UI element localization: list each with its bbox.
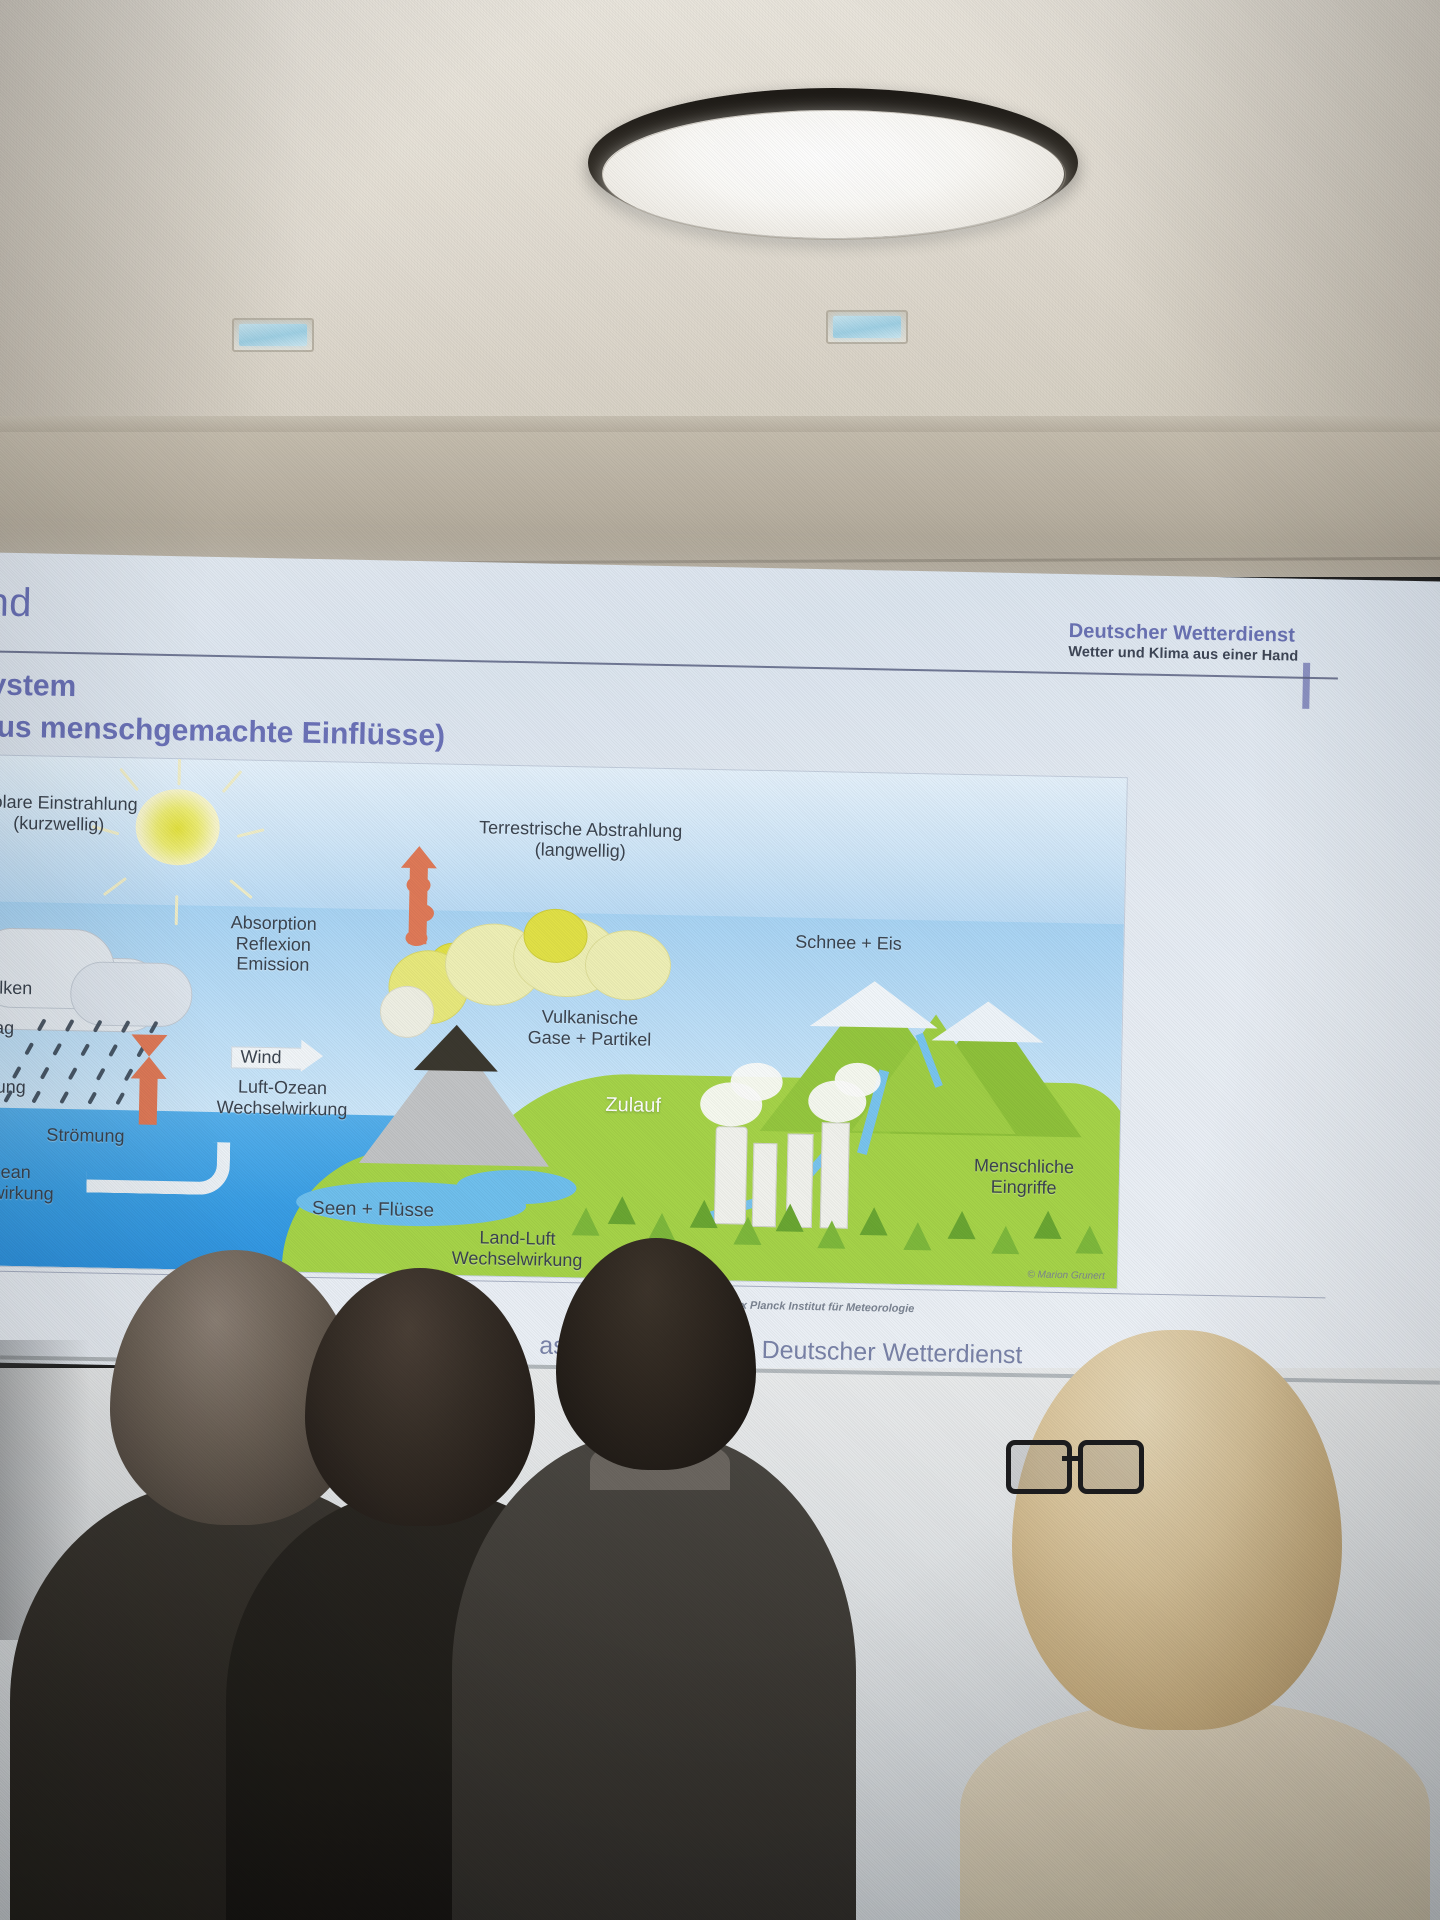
label-absorption-reflexion-emission: Absorption Reflexion Emission <box>183 911 364 976</box>
label-wind: Wind <box>221 1046 301 1068</box>
sun-ray <box>175 895 179 925</box>
tree-icon <box>733 1216 762 1245</box>
ceiling-lamp-edge <box>602 110 1066 240</box>
ceiling-shadow-right <box>1100 0 1440 430</box>
tree-icon <box>690 1200 719 1229</box>
recessed-spotlight-right <box>826 310 908 344</box>
arrow-head-up <box>401 846 437 869</box>
recessed-spotlight-left <box>232 318 314 352</box>
person-torso <box>960 1700 1430 1920</box>
dwd-logo-name: Deutscher Wetterdienst <box>1068 620 1298 648</box>
glasses-bridge <box>1062 1456 1078 1461</box>
label-land-air-interaction: Land-Luft Wechselwirkung <box>417 1226 618 1271</box>
photo-scene: ntergrund Deutscher Wetterdienst Wetter … <box>0 0 1440 1920</box>
tree-icon <box>1034 1210 1063 1239</box>
tree-icon <box>608 1196 637 1225</box>
label-current: Strömung <box>15 1124 155 1147</box>
upper-wall <box>0 432 1440 577</box>
wind-arrow-tip <box>301 1040 324 1072</box>
label-inflow: Zulauf <box>568 1093 698 1118</box>
dwd-logo: Deutscher Wetterdienst Wetter und Klima … <box>1068 620 1299 665</box>
mountain-snowcap <box>932 1000 1045 1042</box>
label-ice-ocean-interaction: Eis-Ozean Wechselwirkung <box>0 1159 89 1204</box>
slide-title: ntergrund <box>0 578 32 627</box>
cooling-tower <box>714 1126 748 1225</box>
label-terrestrial-radiation: Terrestrische Abstrahlung (langwellig) <box>435 816 726 863</box>
glasses-lens <box>1006 1440 1072 1494</box>
smokestack <box>752 1143 778 1227</box>
mountain-snowcap <box>810 980 939 1029</box>
cloud-shape <box>70 961 193 1027</box>
dwd-logo-bar <box>1302 663 1310 709</box>
tree-icon <box>991 1226 1020 1255</box>
label-air-ocean-interaction: Luft-Ozean Wechselwirkung <box>182 1075 383 1120</box>
arrow-head-up <box>131 1056 167 1079</box>
cooling-tower <box>820 1122 850 1229</box>
dwd-logo-tagline: Wetter und Klima aus einer Hand <box>1068 644 1298 665</box>
label-precipitation: Niederschlag <box>0 1016 32 1039</box>
ceiling-shadow-left <box>0 0 300 430</box>
label-solar-radiation: Solare Einstrahlung (kurzwellig) <box>0 791 174 837</box>
glasses-lens <box>1078 1440 1144 1494</box>
label-snow-and-ice: Schnee + Eis <box>753 931 943 955</box>
arrow-head-down <box>131 1034 167 1057</box>
ocean-current-arrow <box>86 1139 230 1195</box>
arrow-wave <box>405 930 427 946</box>
label-clouds: Wolken <box>0 977 53 1000</box>
eyeglasses <box>1006 1440 1136 1492</box>
person-head <box>1012 1330 1342 1730</box>
label-volcanic-gases: Vulkanische Gase + Partikel <box>479 1005 700 1050</box>
tree-icon <box>903 1222 932 1251</box>
spotlight-glass <box>239 324 307 346</box>
tree-icon <box>776 1203 805 1232</box>
tree-icon <box>948 1211 977 1240</box>
tree-icon <box>647 1213 676 1242</box>
diagram-credit: © Marion Grunert <box>1027 1269 1105 1282</box>
label-lakes-rivers: Seen + Flüsse <box>278 1197 468 1222</box>
tree-icon <box>817 1220 846 1249</box>
tree-icon <box>860 1207 889 1236</box>
person-torso <box>452 1432 856 1920</box>
round-ceiling-lamp <box>588 88 1078 253</box>
arrow-shaft <box>139 1076 158 1124</box>
tree-icon <box>1075 1225 1104 1254</box>
sun-ray <box>178 755 182 785</box>
label-human-interference: Menschliche Eingriffe <box>928 1154 1119 1199</box>
spotlight-glass <box>833 316 901 338</box>
label-air-ice-interaction: Luft-Eis Wechselwirkung <box>0 1053 61 1098</box>
slide-subtitle-line1: as Klimasystem <box>0 666 77 705</box>
slide-subtitle-line2: atürliche plus menschgemachte Einflüsse) <box>0 707 445 753</box>
climate-system-diagram: Solare Einstrahlung (kurzwellig) Terrest… <box>0 751 1128 1289</box>
